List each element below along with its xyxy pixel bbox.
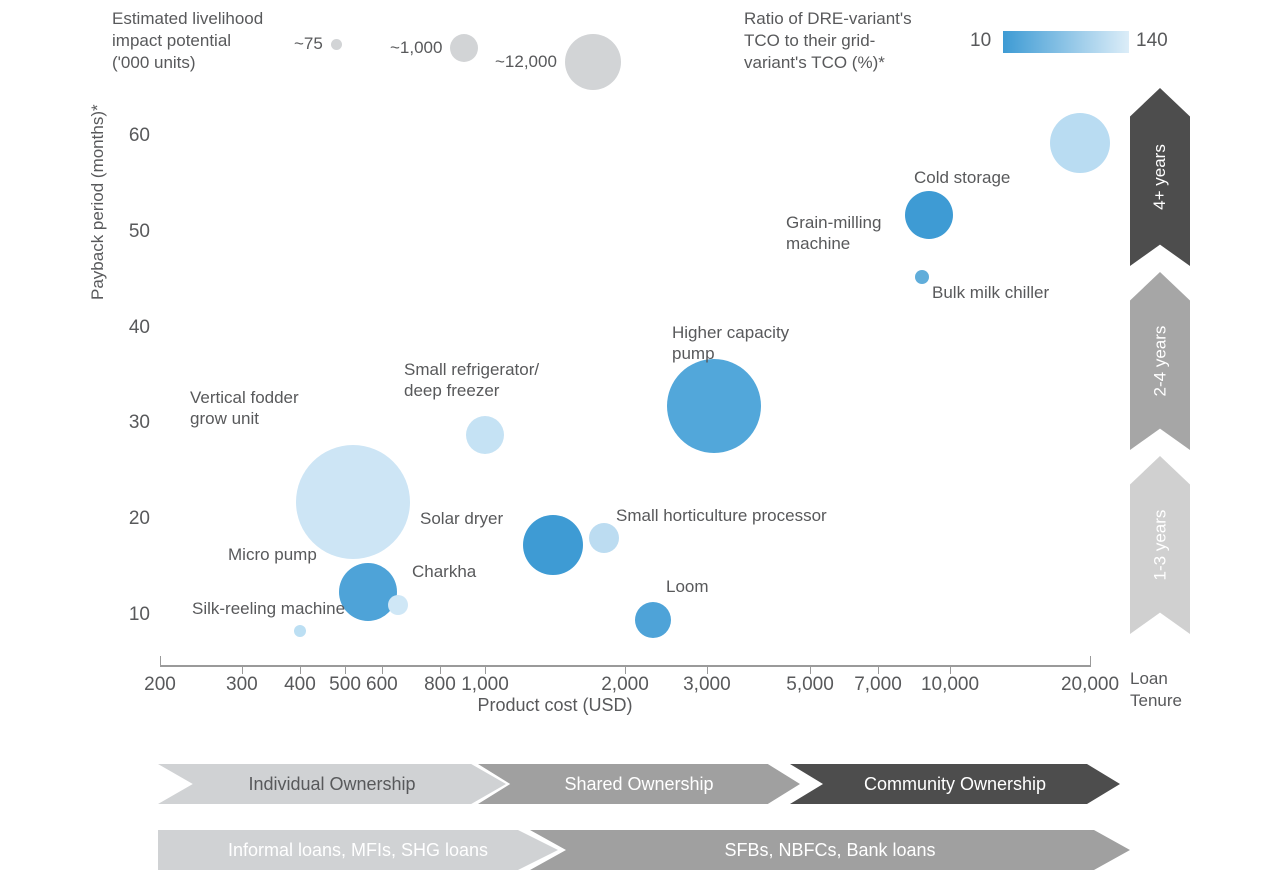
finance-band-1: Informal loans, MFIs, SHG loans — [158, 830, 558, 870]
y-tick-label: 30 — [104, 412, 150, 434]
point-label-vertical-fodder-grow-unit: Vertical fodder grow unit — [190, 387, 299, 429]
bubble-micro-pump[interactable] — [339, 563, 397, 621]
y-tick-label: 20 — [104, 508, 150, 530]
size-legend-item-large: ~12,000 — [495, 34, 621, 90]
ownership-band-label: Individual Ownership — [248, 774, 415, 795]
bubble-solar-dryer[interactable] — [523, 515, 583, 575]
point-label-grain-milling-machine: Grain-milling machine — [786, 212, 881, 254]
bubble-small-horticulture-processor[interactable] — [589, 523, 619, 553]
x-axis-title: Product cost (USD) — [0, 695, 1110, 716]
x-tick-label: 400 — [284, 674, 316, 696]
x-tick-label: 7,000 — [854, 674, 902, 696]
color-legend-title-line-3: variant's TCO (%)* — [744, 52, 934, 74]
loan-tenure-caption-line-2: Tenure — [1130, 690, 1182, 712]
bubble-silk-reeling-machine[interactable] — [294, 625, 306, 637]
y-tick-label: 50 — [104, 221, 150, 243]
point-label-silk-reeling-machine: Silk-reeling machine — [192, 598, 345, 619]
loan-tenure-label: 1-3 years — [1150, 510, 1170, 581]
x-tick-label: 20,000 — [1061, 674, 1119, 696]
bubble-grain-milling-machine[interactable] — [905, 191, 953, 239]
color-legend-title-line-2: TCO to their grid- — [744, 30, 934, 52]
x-tick-mark — [300, 665, 301, 674]
color-legend-min-label: 10 — [970, 30, 991, 52]
point-label-small-horticulture-processor: Small horticulture processor — [616, 505, 827, 526]
x-tick-mark — [160, 656, 161, 667]
size-legend-label-large: ~12,000 — [495, 52, 557, 72]
size-legend-bubble-small — [331, 39, 342, 50]
size-legend-item-small: ~75 — [294, 34, 342, 54]
color-legend-max-label: 140 — [1136, 30, 1168, 52]
ownership-band-label: Shared Ownership — [564, 774, 713, 795]
x-tick-label: 200 — [144, 674, 176, 696]
x-tick-mark — [810, 665, 811, 674]
finance-band-label: SFBs, NBFCs, Bank loans — [724, 840, 935, 861]
loan-tenure-label: 2-4 years — [1150, 326, 1170, 397]
x-tick-label: 2,000 — [601, 674, 649, 696]
point-label-small-refrigerator-deep-freezer: Small refrigerator/ deep freezer — [404, 359, 539, 401]
x-tick-mark — [242, 665, 243, 674]
bubble-loom[interactable] — [635, 602, 671, 638]
loan-tenure-band-3: 1-3 years — [1130, 456, 1190, 634]
size-legend-title-line-3: ('000 units) — [112, 52, 302, 74]
y-tick-label: 40 — [104, 317, 150, 339]
x-tick-label: 300 — [226, 674, 258, 696]
bubble-vertical-fodder-grow-unit[interactable] — [296, 445, 410, 559]
point-label-higher-capacity-pump: Higher capacity pump — [672, 322, 789, 364]
ownership-band-1: Individual Ownership — [158, 764, 506, 804]
size-legend-bubble-medium — [450, 34, 478, 62]
y-tick-label: 60 — [104, 125, 150, 147]
color-legend-title-line-1: Ratio of DRE-variant's — [744, 8, 934, 30]
x-tick-mark — [440, 665, 441, 674]
finance-band-2: SFBs, NBFCs, Bank loans — [530, 830, 1130, 870]
finance-band-label: Informal loans, MFIs, SHG loans — [228, 840, 488, 861]
x-tick-label: 600 — [366, 674, 398, 696]
bubble-charkha[interactable] — [388, 595, 408, 615]
point-label-bulk-milk-chiller: Bulk milk chiller — [932, 282, 1049, 303]
x-tick-mark — [1090, 656, 1091, 667]
x-tick-mark — [345, 665, 346, 674]
x-tick-mark — [950, 665, 951, 674]
x-tick-mark — [878, 665, 879, 674]
loan-tenure-band-1: 4+ years — [1130, 88, 1190, 266]
size-legend-title-line-1: Estimated livelihood — [112, 8, 302, 30]
ownership-band-3: Community Ownership — [790, 764, 1120, 804]
loan-tenure-caption-line-1: Loan — [1130, 668, 1182, 690]
x-tick-label: 3,000 — [683, 674, 731, 696]
size-legend-label-small: ~75 — [294, 34, 323, 54]
x-tick-mark — [707, 665, 708, 674]
loan-tenure-label: 4+ years — [1150, 144, 1170, 210]
x-tick-label: 500 — [329, 674, 361, 696]
ownership-band-2: Shared Ownership — [478, 764, 800, 804]
point-label-cold-storage: Cold storage — [914, 167, 1010, 188]
bubble-small-refrigerator-deep-freezer[interactable] — [466, 416, 504, 454]
ownership-band-label: Community Ownership — [864, 774, 1046, 795]
size-legend-title: Estimated livelihood impact potential ('… — [112, 8, 302, 74]
bubble-cold-storage[interactable] — [1050, 113, 1110, 173]
point-label-charkha: Charkha — [412, 561, 476, 582]
x-tick-label: 1,000 — [461, 674, 509, 696]
loan-tenure-band-2: 2-4 years — [1130, 272, 1190, 450]
x-tick-mark — [625, 665, 626, 674]
loan-tenure-caption: Loan Tenure — [1130, 668, 1182, 712]
x-tick-mark — [382, 665, 383, 674]
x-tick-label: 5,000 — [786, 674, 834, 696]
size-legend-item-medium: ~1,000 — [390, 34, 478, 62]
bubble-bulk-milk-chiller[interactable] — [915, 270, 929, 284]
size-legend-label-medium: ~1,000 — [390, 38, 442, 58]
point-label-loom: Loom — [666, 576, 709, 597]
point-label-solar-dryer: Solar dryer — [420, 508, 503, 529]
color-legend-gradient-bar — [1003, 31, 1129, 53]
y-tick-label: 10 — [104, 604, 150, 626]
x-tick-label: 800 — [424, 674, 456, 696]
point-label-micro-pump: Micro pump — [228, 544, 317, 565]
size-legend-bubble-large — [565, 34, 621, 90]
bubble-higher-capacity-pump[interactable] — [667, 359, 761, 453]
x-tick-label: 10,000 — [921, 674, 979, 696]
color-legend-title: Ratio of DRE-variant's TCO to their grid… — [744, 8, 934, 74]
size-legend-title-line-2: impact potential — [112, 30, 302, 52]
x-tick-mark — [485, 665, 486, 674]
